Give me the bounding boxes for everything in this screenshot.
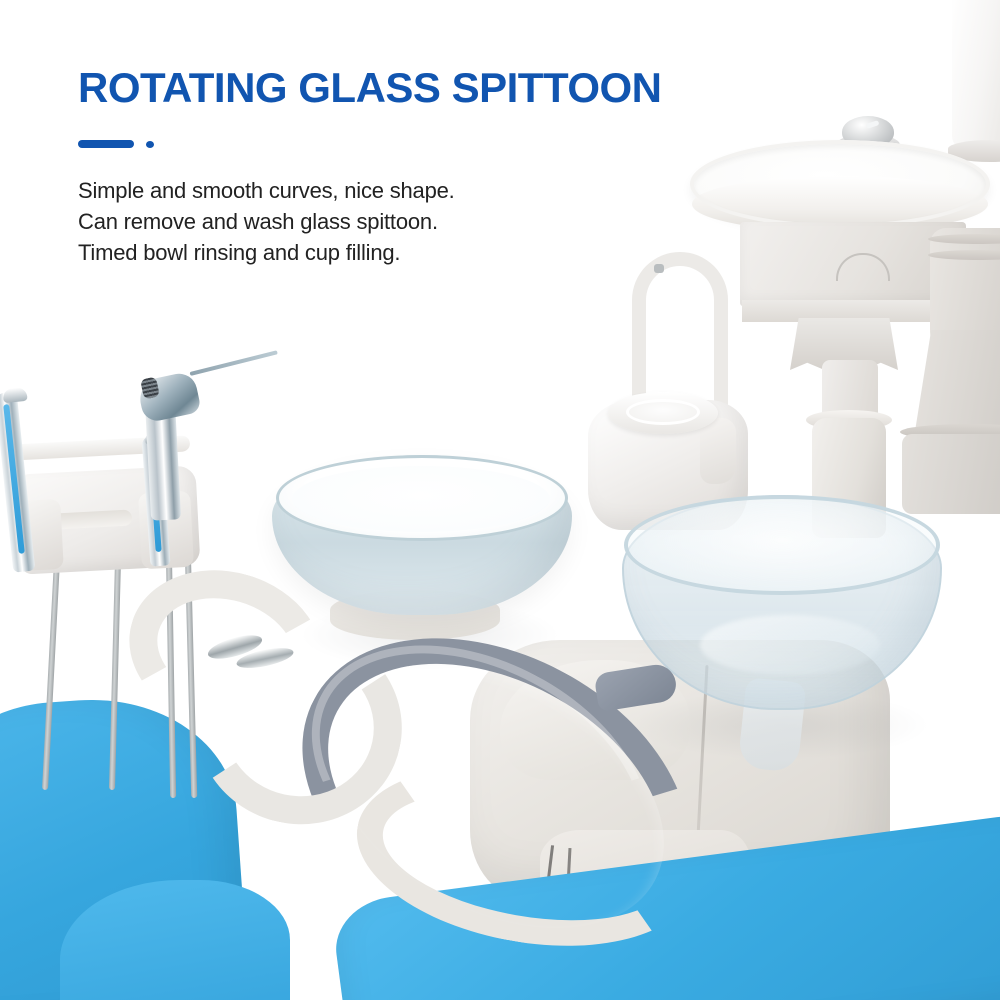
glass-bowl-right-rim	[624, 495, 940, 595]
description-line-2: Can remove and wash glass spittoon.	[78, 207, 698, 238]
description-list: Simple and smooth curves, nice shape. Ca…	[78, 176, 698, 268]
support-column-base	[902, 434, 1000, 514]
description-line-1: Simple and smooth curves, nice shape.	[78, 176, 698, 207]
product-feature-card: ROTATING GLASS SPITTOON Simple and smoot…	[0, 0, 1000, 1000]
tray-table-lip	[690, 140, 990, 228]
text-block: ROTATING GLASS SPITTOON Simple and smoot…	[78, 66, 698, 268]
cup-holder-ring-inner	[626, 399, 700, 425]
glass-bowl-left-inner	[292, 466, 550, 532]
support-column-upper	[952, 0, 1000, 150]
three-way-syringe-nozzle	[190, 350, 278, 376]
description-line-3: Timed bowl rinsing and cup filling.	[78, 238, 698, 269]
glass-bowl-right-sheen	[700, 615, 880, 675]
divider-dot	[146, 141, 154, 148]
divider-bar	[78, 140, 134, 148]
cup-filler-collar	[700, 418, 736, 484]
divider	[78, 140, 698, 150]
suction-handpiece-left-cap	[2, 387, 27, 403]
page-title: ROTATING GLASS SPITTOON	[78, 66, 698, 110]
